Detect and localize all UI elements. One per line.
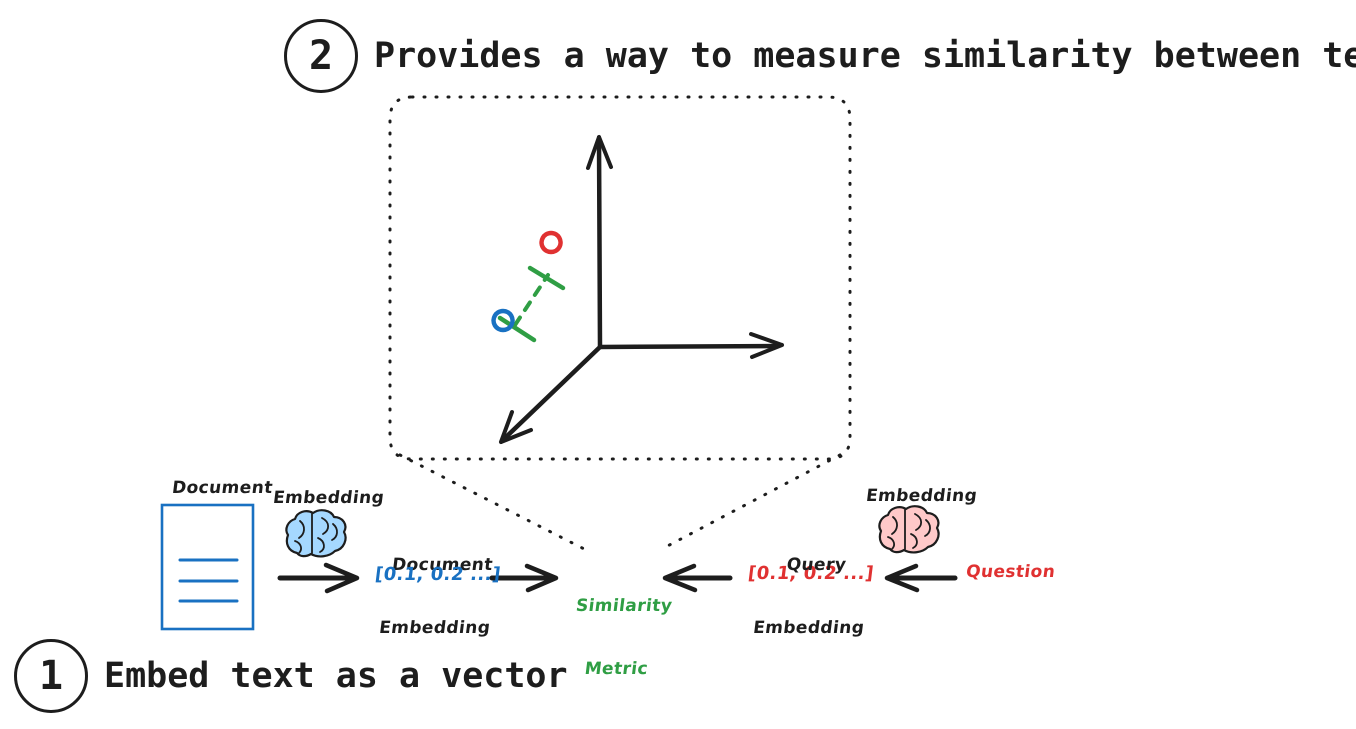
document-vector-value: [0.1, 0.2 ...] [374, 564, 502, 587]
connector-tick-end [530, 268, 563, 288]
query-embedding-label: Query Embedding [747, 512, 879, 682]
document-label: Document [171, 478, 274, 499]
query-embedding-label-line2: Embedding [752, 618, 866, 639]
step-1-badge: 1 [14, 639, 88, 713]
arrow-embedding-to-similarity [492, 566, 556, 590]
connector-dashed-line [515, 275, 548, 325]
query-vector-point [542, 233, 561, 252]
similarity-metric-line2: Metric [567, 659, 666, 680]
brain-icon-pink [879, 506, 938, 552]
y-axis-line [599, 140, 600, 347]
embedding-label-right: Embedding [865, 486, 979, 507]
similarity-metric-line1: Similarity [575, 596, 674, 617]
diagram-canvas: 2 Provides a way to measure similarity b… [0, 0, 1356, 729]
step-1-caption: Embed text as a vector [104, 656, 568, 696]
document-embedding-label: Document Embedding [373, 512, 505, 682]
z-axis-line [505, 347, 600, 438]
document-icon [162, 505, 253, 629]
step-2-caption: Provides a way to measure similarity bet… [374, 36, 1356, 76]
vector-space-frame [390, 97, 850, 459]
document-page-outline [162, 505, 253, 629]
step-2-callout: 2 Provides a way to measure similarity b… [284, 19, 1356, 93]
diagram-vector-graphics [0, 0, 1356, 729]
question-label: Question [965, 562, 1057, 583]
query-embedding-label-line1: Query [760, 555, 874, 576]
arrow-document-to-embedding [280, 565, 357, 591]
arrow-question-to-embedding [887, 566, 955, 590]
x-axis-line [600, 346, 778, 347]
step-2-badge: 2 [284, 19, 358, 93]
document-embedding-label-line2: Embedding [378, 618, 492, 639]
brain-icon-blue [286, 510, 345, 556]
embedding-label-left: Embedding [272, 488, 386, 509]
axes-group [501, 137, 782, 442]
